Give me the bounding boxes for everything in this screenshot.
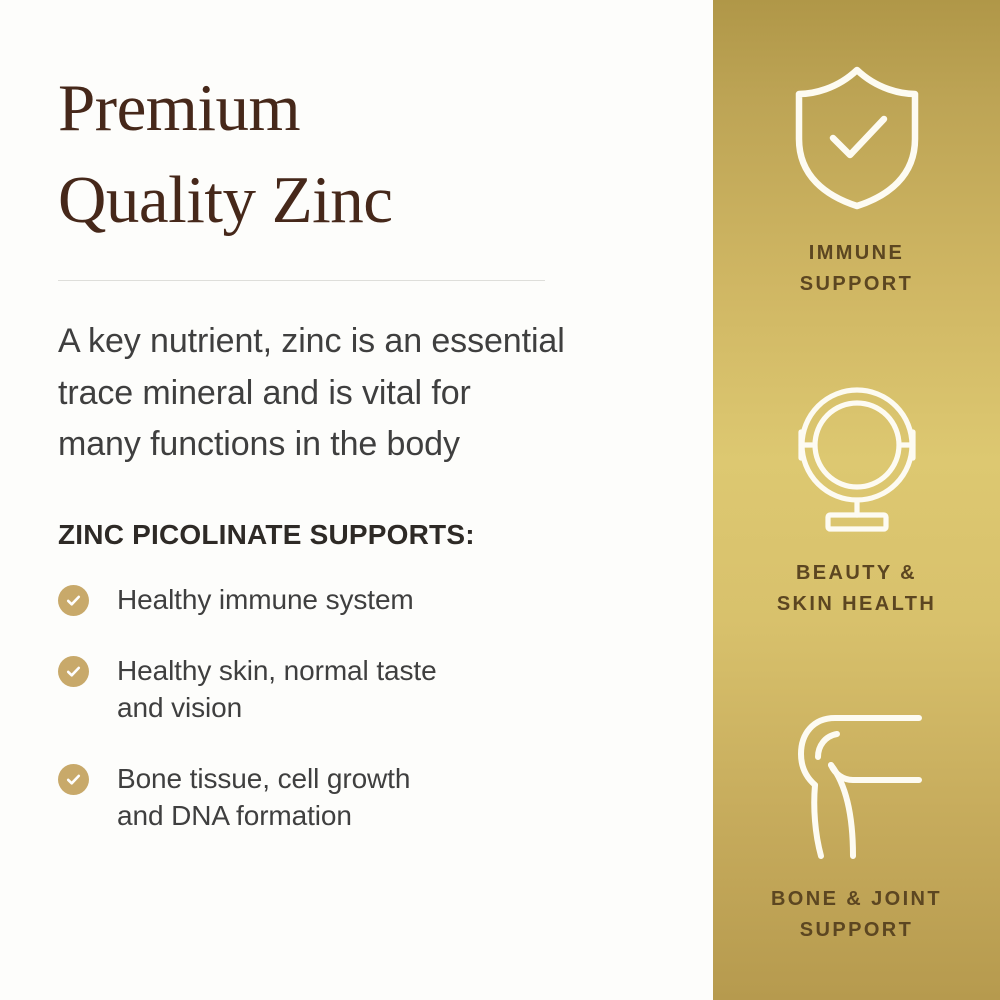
- feature-immune-support: IMMUNE SUPPORT: [713, 58, 1000, 300]
- content-panel: Premium Quality Zinc A key nutrient, zin…: [0, 0, 713, 1000]
- product-infographic: Premium Quality Zinc A key nutrient, zin…: [0, 0, 1000, 1000]
- list-item: Healthy skin, normal taste and vision: [58, 652, 713, 726]
- check-circle-icon: [58, 585, 89, 616]
- knee-joint-icon: [787, 704, 927, 864]
- vanity-mirror-icon: [787, 378, 927, 538]
- intro-line-2: trace mineral and is vital for: [58, 368, 683, 420]
- check-circle-icon: [58, 656, 89, 687]
- list-item-label-line-2: and vision: [117, 689, 437, 726]
- check-circle-icon: [58, 764, 89, 795]
- feature-bone-joint-support: BONE & JOINT SUPPORT: [713, 704, 1000, 946]
- list-item: Bone tissue, cell growth and DNA formati…: [58, 760, 713, 834]
- page-title: Premium Quality Zinc: [58, 62, 618, 247]
- feature-beauty-skin-health: BEAUTY & SKIN HEALTH: [713, 378, 1000, 620]
- page-title-line-1: Premium: [58, 62, 618, 154]
- feature-beauty-skin-health-label: BEAUTY & SKIN HEALTH: [777, 558, 936, 620]
- feature-label-line-2: SUPPORT: [800, 269, 913, 300]
- intro-line-1: A key nutrient, zinc is an essential: [58, 316, 683, 368]
- feature-label-line-1: BONE & JOINT: [771, 884, 942, 915]
- list-item-label: Healthy immune system: [117, 581, 414, 618]
- feature-label-line-1: BEAUTY &: [777, 558, 936, 589]
- benefits-sidebar: IMMUNE SUPPORT: [713, 0, 1000, 1000]
- list-item-label-line-2: and DNA formation: [117, 797, 410, 834]
- intro-paragraph: A key nutrient, zinc is an essential tra…: [58, 316, 683, 471]
- shield-check-icon: [793, 58, 921, 218]
- benefit-list: Healthy immune system Healthy skin, norm…: [58, 581, 713, 835]
- list-item-label-line-1: Healthy skin, normal taste: [117, 652, 437, 689]
- feature-label-line-2: SUPPORT: [771, 915, 942, 946]
- supports-heading: ZINC PICOLINATE SUPPORTS:: [58, 518, 713, 552]
- feature-label-line-1: IMMUNE: [800, 238, 913, 269]
- title-divider: [58, 280, 545, 281]
- feature-label-line-2: SKIN HEALTH: [777, 589, 936, 620]
- list-item-label-line-1: Healthy immune system: [117, 581, 414, 618]
- list-item-label: Healthy skin, normal taste and vision: [117, 652, 437, 726]
- list-item: Healthy immune system: [58, 581, 713, 618]
- page-title-line-2: Quality Zinc: [58, 154, 618, 246]
- list-item-label: Bone tissue, cell growth and DNA formati…: [117, 760, 410, 834]
- intro-line-3: many functions in the body: [58, 419, 683, 471]
- feature-bone-joint-support-label: BONE & JOINT SUPPORT: [771, 884, 942, 946]
- feature-immune-support-label: IMMUNE SUPPORT: [800, 238, 913, 300]
- list-item-label-line-1: Bone tissue, cell growth: [117, 760, 410, 797]
